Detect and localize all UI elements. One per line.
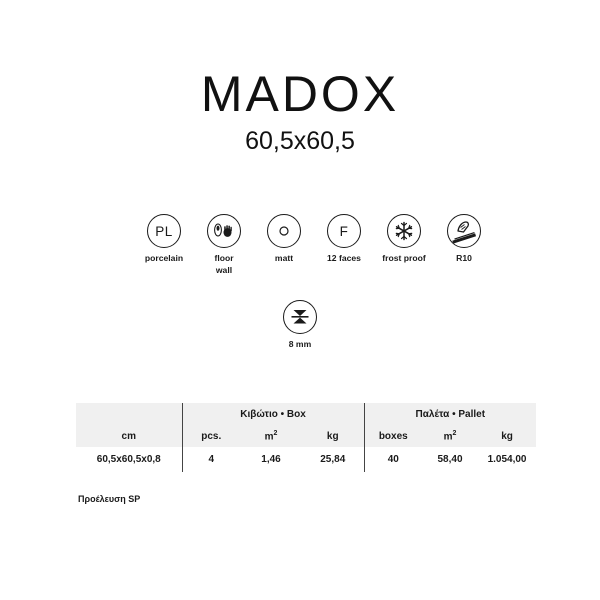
feature-thickness: 8 mm [270,300,330,351]
feature-label-matt: matt [275,253,293,265]
column-header-box-kg: kg [302,425,364,447]
feature-12-faces: F 12 faces [314,214,374,265]
origin-note: Προέλευση SP [78,494,140,504]
product-size: 60,5x60,5 [0,127,600,156]
matt-icon [267,214,301,248]
cell-pallet-boxes: 40 [364,447,422,472]
feature-icon-row: PL porcelain floor wall matt [134,214,494,276]
group-header-pallet: Παλέτα • Pallet [364,403,536,425]
table-row: 60,5x60,5x0,8 4 1,46 25,84 40 58,40 1.05… [76,447,536,472]
column-header-pallet-m2: m2 [422,425,478,447]
feature-frost-proof: frost proof [374,214,434,265]
table-column-header-row: cm pcs. m2 kg boxes m2 kg [76,425,536,447]
feature-label-12-faces: 12 faces [327,253,361,265]
cell-box-pcs: 4 [182,447,240,472]
porcelain-icon-label: PL [155,224,173,239]
box-m2-exponent: 2 [274,430,278,437]
column-header-pallet-kg: kg [478,425,536,447]
cell-box-kg: 25,84 [302,447,364,472]
box-m2-base: m [265,431,274,442]
faces-icon-label: F [340,224,349,239]
cell-pallet-kg: 1.054,00 [478,447,536,472]
cell-cm: 60,5x60,5x0,8 [76,447,182,472]
table-group-header-row: Κιβώτιο • Box Παλέτα • Pallet [76,403,536,425]
feature-porcelain: PL porcelain [134,214,194,265]
feature-matt: matt [254,214,314,265]
porcelain-icon: PL [147,214,181,248]
pallet-m2-exponent: 2 [453,430,457,437]
column-header-box-pcs: pcs. [182,425,240,447]
thickness-icon-row: 8 mm [0,300,600,351]
slip-rating-icon [447,214,481,248]
feature-label-floor-wall: floor wall [214,253,233,276]
feature-slip-rating: R10 [434,214,494,265]
thickness-icon [283,300,317,334]
specification-table: Κιβώτιο • Box Παλέτα • Pallet cm pcs. m2… [76,403,536,472]
title-block: MADOX 60,5x60,5 [0,68,600,156]
feature-floor-wall: floor wall [194,214,254,276]
feature-label-frost-proof: frost proof [382,253,425,265]
feature-label-thickness: 8 mm [289,339,311,351]
cell-box-m2: 1,46 [240,447,302,472]
floor-wall-icon [207,214,241,248]
column-header-pallet-boxes: boxes [364,425,422,447]
page-title: MADOX [0,68,600,121]
feature-label-porcelain: porcelain [145,253,183,265]
column-header-box-m2: m2 [240,425,302,447]
pallet-m2-base: m [444,431,453,442]
feature-label-slip-rating: R10 [456,253,472,265]
cell-pallet-m2: 58,40 [422,447,478,472]
group-header-cm [76,403,182,425]
column-header-cm: cm [76,425,182,447]
frost-proof-icon [387,214,421,248]
group-header-box: Κιβώτιο • Box [182,403,364,425]
faces-icon: F [327,214,361,248]
